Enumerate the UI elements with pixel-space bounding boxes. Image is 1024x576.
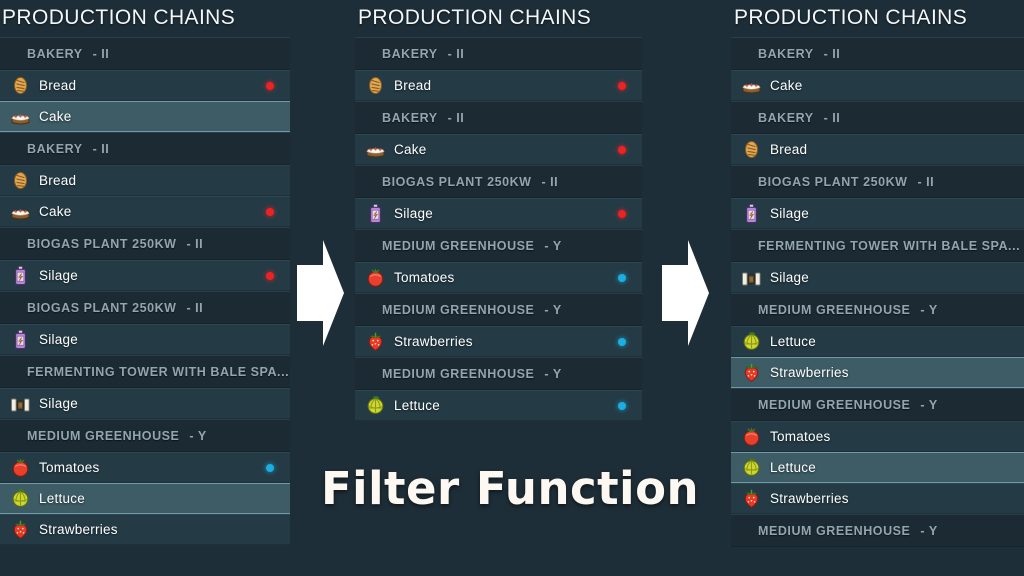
group-name: BAKERY <box>382 47 438 61</box>
group-production-level: - Y <box>920 303 937 317</box>
production-item-row[interactable]: Silage <box>0 260 290 291</box>
lettuce-icon <box>741 331 762 352</box>
group-production-level: - Y <box>920 398 937 412</box>
bread-icon <box>10 75 31 96</box>
group-production-level: - II <box>187 237 204 251</box>
production-chain-list[interactable]: BAKERY- IIBreadBAKERY- IICakeBIOGAS PLAN… <box>355 37 642 421</box>
status-indicator-blue <box>266 464 274 472</box>
comparison-stage: PRODUCTION CHAINS BAKERY- IIBreadCakeBAK… <box>0 0 1024 576</box>
production-item-row[interactable]: Cake <box>0 101 290 132</box>
production-group-header[interactable]: BAKERY- II <box>355 101 642 134</box>
production-item-label: Strawberries <box>394 334 473 349</box>
production-item-row[interactable]: Lettuce <box>731 326 1024 357</box>
production-item-row[interactable]: Strawberries <box>0 514 290 545</box>
production-group-header[interactable]: MEDIUM GREENHOUSE- Y <box>355 357 642 390</box>
production-item-row[interactable]: Cake <box>0 196 290 227</box>
group-name: MEDIUM GREENHOUSE <box>382 367 534 381</box>
group-production-level: - Y <box>544 239 561 253</box>
strawberry-icon <box>741 488 762 509</box>
production-item-label: Cake <box>39 109 72 124</box>
production-group-header[interactable]: MEDIUM GREENHOUSE- Y <box>731 514 1024 547</box>
production-item-label: Strawberries <box>770 491 849 506</box>
production-item-row[interactable]: Cake <box>355 134 642 165</box>
production-item-label: Bread <box>39 173 76 188</box>
group-name: MEDIUM GREENHOUSE <box>27 429 179 443</box>
strawberry-icon <box>741 362 762 383</box>
production-chains-panel-filtered-two: PRODUCTION CHAINS BAKERY- IICakeBAKERY- … <box>731 0 1024 547</box>
group-production-level: - Y <box>544 367 561 381</box>
production-item-row[interactable]: Strawberries <box>355 326 642 357</box>
tomato-icon <box>365 267 386 288</box>
production-item-label: Silage <box>770 270 809 285</box>
production-group-header[interactable]: MEDIUM GREENHOUSE- Y <box>731 293 1024 326</box>
production-item-row[interactable]: Silage <box>0 324 290 355</box>
group-production-level: - Y <box>920 524 937 538</box>
production-group-header[interactable]: MEDIUM GREENHOUSE- Y <box>0 419 290 452</box>
production-item-row[interactable]: Strawberries <box>731 483 1024 514</box>
production-item-row[interactable]: Lettuce <box>355 390 642 421</box>
production-item-label: Silage <box>770 206 809 221</box>
production-item-label: Tomatoes <box>770 429 831 444</box>
production-item-row[interactable]: Silage <box>0 388 290 419</box>
production-item-row[interactable]: Silage <box>731 198 1024 229</box>
production-group-header[interactable]: BIOGAS PLANT 250KW- II <box>0 227 290 260</box>
group-production-level: - Y <box>544 303 561 317</box>
production-item-row[interactable]: Bread <box>0 70 290 101</box>
group-production-level: - II <box>918 175 935 189</box>
group-name: BAKERY <box>382 111 438 125</box>
production-item-label: Silage <box>39 396 78 411</box>
status-indicator-blue <box>618 402 626 410</box>
silage-bale-icon <box>741 267 762 288</box>
lettuce-icon <box>365 395 386 416</box>
production-group-header[interactable]: BAKERY- II <box>731 37 1024 70</box>
production-item-row[interactable]: Bread <box>731 134 1024 165</box>
status-indicator-red <box>266 82 274 90</box>
group-production-level: - II <box>93 142 110 156</box>
group-name: FERMENTING TOWER WITH BALE SPA... <box>27 365 289 379</box>
bread-icon <box>365 75 386 96</box>
page-title: PRODUCTION CHAINS <box>355 0 642 37</box>
production-item-label: Silage <box>39 332 78 347</box>
production-item-row[interactable]: Tomatoes <box>0 452 290 483</box>
production-group-header[interactable]: BAKERY- II <box>355 37 642 70</box>
caption-filter-function: Filter Function <box>300 462 720 515</box>
group-name: MEDIUM GREENHOUSE <box>758 524 910 538</box>
silage-bottle-icon <box>741 203 762 224</box>
production-item-label: Lettuce <box>770 460 816 475</box>
production-chain-list[interactable]: BAKERY- IIBreadCakeBAKERY- IIBreadCakeBI… <box>0 37 290 545</box>
strawberry-icon <box>10 519 31 540</box>
status-indicator-red <box>618 146 626 154</box>
cake-icon <box>741 75 762 96</box>
production-item-label: Strawberries <box>39 522 118 537</box>
group-name: BAKERY <box>27 142 83 156</box>
status-indicator-red <box>266 272 274 280</box>
production-group-header[interactable]: MEDIUM GREENHOUSE- Y <box>355 293 642 326</box>
production-item-label: Bread <box>39 78 76 93</box>
production-item-label: Cake <box>770 78 803 93</box>
production-item-row[interactable]: Bread <box>0 165 290 196</box>
production-group-header[interactable]: BIOGAS PLANT 250KW- II <box>731 165 1024 198</box>
group-production-level: - II <box>542 175 559 189</box>
silage-bale-icon <box>10 393 31 414</box>
silage-bottle-icon <box>10 329 31 350</box>
production-group-header[interactable]: BIOGAS PLANT 250KW- II <box>0 291 290 324</box>
group-production-level: - II <box>187 301 204 315</box>
production-item-label: Silage <box>394 206 433 221</box>
production-item-label: Strawberries <box>770 365 849 380</box>
lettuce-icon <box>10 488 31 509</box>
production-item-row[interactable]: Tomatoes <box>731 421 1024 452</box>
production-group-header[interactable]: MEDIUM GREENHOUSE- Y <box>731 388 1024 421</box>
filter-arrow-1-icon <box>297 238 345 348</box>
production-item-row[interactable]: Bread <box>355 70 642 101</box>
production-group-header[interactable]: MEDIUM GREENHOUSE- Y <box>355 229 642 262</box>
group-name: BAKERY <box>758 47 814 61</box>
production-item-label: Silage <box>39 268 78 283</box>
group-name: FERMENTING TOWER WITH BALE SPA... <box>758 239 1020 253</box>
group-production-level: - II <box>824 111 841 125</box>
status-indicator-red <box>618 82 626 90</box>
production-item-label: Tomatoes <box>394 270 455 285</box>
group-name: BIOGAS PLANT 250KW <box>27 301 177 315</box>
production-item-label: Lettuce <box>394 398 440 413</box>
production-item-row[interactable]: Strawberries <box>731 357 1024 388</box>
status-indicator-red <box>266 208 274 216</box>
page-title: PRODUCTION CHAINS <box>731 0 1024 37</box>
silage-bottle-icon <box>365 203 386 224</box>
production-item-label: Bread <box>770 142 807 157</box>
production-item-label: Cake <box>39 204 72 219</box>
group-production-level: - II <box>448 47 465 61</box>
group-name: BIOGAS PLANT 250KW <box>27 237 177 251</box>
tomato-icon <box>10 457 31 478</box>
bread-icon <box>10 170 31 191</box>
group-production-level: - II <box>824 47 841 61</box>
production-group-header[interactable]: BAKERY- II <box>0 132 290 165</box>
group-name: MEDIUM GREENHOUSE <box>758 398 910 412</box>
lettuce-icon <box>741 457 762 478</box>
silage-bottle-icon <box>10 265 31 286</box>
group-production-level: - II <box>448 111 465 125</box>
production-item-row[interactable]: Silage <box>731 262 1024 293</box>
production-item-row[interactable]: Cake <box>731 70 1024 101</box>
production-group-header[interactable]: FERMENTING TOWER WITH BALE SPA... <box>731 229 1024 262</box>
production-group-header[interactable]: FERMENTING TOWER WITH BALE SPA... <box>0 355 290 388</box>
group-name: MEDIUM GREENHOUSE <box>382 239 534 253</box>
cake-icon <box>365 139 386 160</box>
status-indicator-red <box>618 210 626 218</box>
cake-icon <box>10 201 31 222</box>
group-production-level: - Y <box>189 429 206 443</box>
production-group-header[interactable]: BAKERY- II <box>731 101 1024 134</box>
status-indicator-blue <box>618 338 626 346</box>
production-item-row[interactable]: Tomatoes <box>355 262 642 293</box>
group-production-level: - II <box>93 47 110 61</box>
production-group-header[interactable]: BIOGAS PLANT 250KW- II <box>355 165 642 198</box>
production-chains-panel-unfiltered: PRODUCTION CHAINS BAKERY- IIBreadCakeBAK… <box>0 0 290 545</box>
group-name: BIOGAS PLANT 250KW <box>382 175 532 189</box>
production-item-row[interactable]: Lettuce <box>0 483 290 514</box>
production-group-header[interactable]: BAKERY- II <box>0 37 290 70</box>
production-item-label: Bread <box>394 78 431 93</box>
group-name: BAKERY <box>27 47 83 61</box>
filter-arrow-2-icon <box>662 238 710 348</box>
production-item-row[interactable]: Silage <box>355 198 642 229</box>
page-title: PRODUCTION CHAINS <box>0 0 290 37</box>
production-chain-list[interactable]: BAKERY- IICakeBAKERY- IIBreadBIOGAS PLAN… <box>731 37 1024 547</box>
production-item-label: Cake <box>394 142 427 157</box>
tomato-icon <box>741 426 762 447</box>
production-item-row[interactable]: Lettuce <box>731 452 1024 483</box>
group-name: MEDIUM GREENHOUSE <box>382 303 534 317</box>
group-name: BIOGAS PLANT 250KW <box>758 175 908 189</box>
group-name: MEDIUM GREENHOUSE <box>758 303 910 317</box>
production-chains-panel-filtered-one: PRODUCTION CHAINS BAKERY- IIBreadBAKERY-… <box>355 0 642 421</box>
production-item-label: Lettuce <box>39 491 85 506</box>
cake-icon <box>10 106 31 127</box>
status-indicator-blue <box>618 274 626 282</box>
group-name: BAKERY <box>758 111 814 125</box>
bread-icon <box>741 139 762 160</box>
production-item-label: Lettuce <box>770 334 816 349</box>
production-item-label: Tomatoes <box>39 460 100 475</box>
strawberry-icon <box>365 331 386 352</box>
